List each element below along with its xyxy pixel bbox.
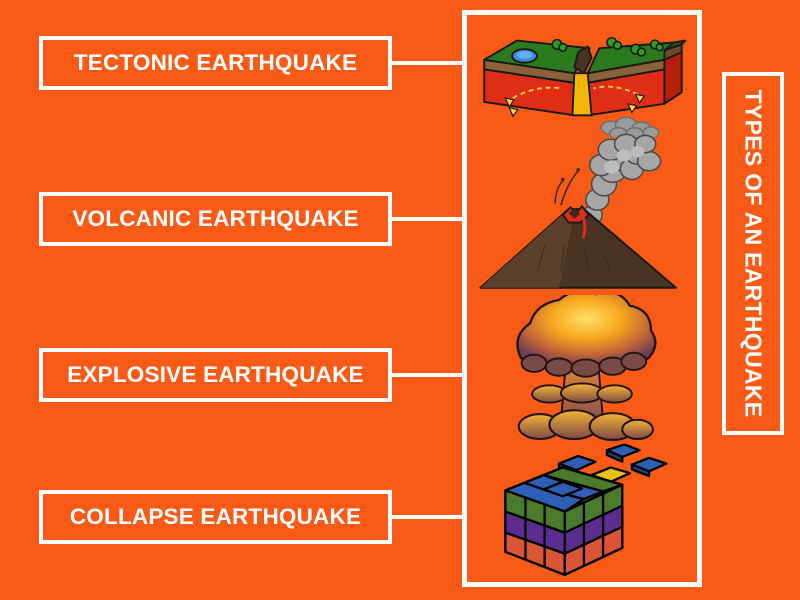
label-box-tectonic[interactable]: TECTONIC EARTHQUAKE <box>39 36 392 90</box>
label-box-collapse[interactable]: COLLAPSE EARTHQUAKE <box>39 490 392 544</box>
label-text-explosive: EXPLOSIVE EARTHQUAKE <box>67 362 364 388</box>
illustration-panel <box>462 10 702 587</box>
erupting-volcano-icon <box>467 123 697 303</box>
connector-line-collapse <box>392 515 464 519</box>
vertical-title-text: TYPES OF AN EARTHQUAKE <box>740 90 767 418</box>
poster-canvas: TECTONIC EARTHQUAKE VOLCANIC EARTHQUAKE … <box>0 0 800 600</box>
label-text-volcanic: VOLCANIC EARTHQUAKE <box>72 206 358 232</box>
connector-line-volcanic <box>392 217 464 221</box>
connector-line-tectonic <box>392 61 464 65</box>
connector-line-explosive <box>392 373 464 377</box>
collapsing-rubiks-cube-icon <box>467 440 697 585</box>
label-text-collapse: COLLAPSE EARTHQUAKE <box>70 504 361 530</box>
mushroom-cloud-explosion-icon <box>467 295 697 445</box>
label-box-explosive[interactable]: EXPLOSIVE EARTHQUAKE <box>39 348 392 402</box>
vertical-title-box: TYPES OF AN EARTHQUAKE <box>722 72 784 435</box>
label-box-volcanic[interactable]: VOLCANIC EARTHQUAKE <box>39 192 392 246</box>
tectonic-plates-block-diagram-icon <box>467 17 697 137</box>
label-text-tectonic: TECTONIC EARTHQUAKE <box>74 50 357 76</box>
